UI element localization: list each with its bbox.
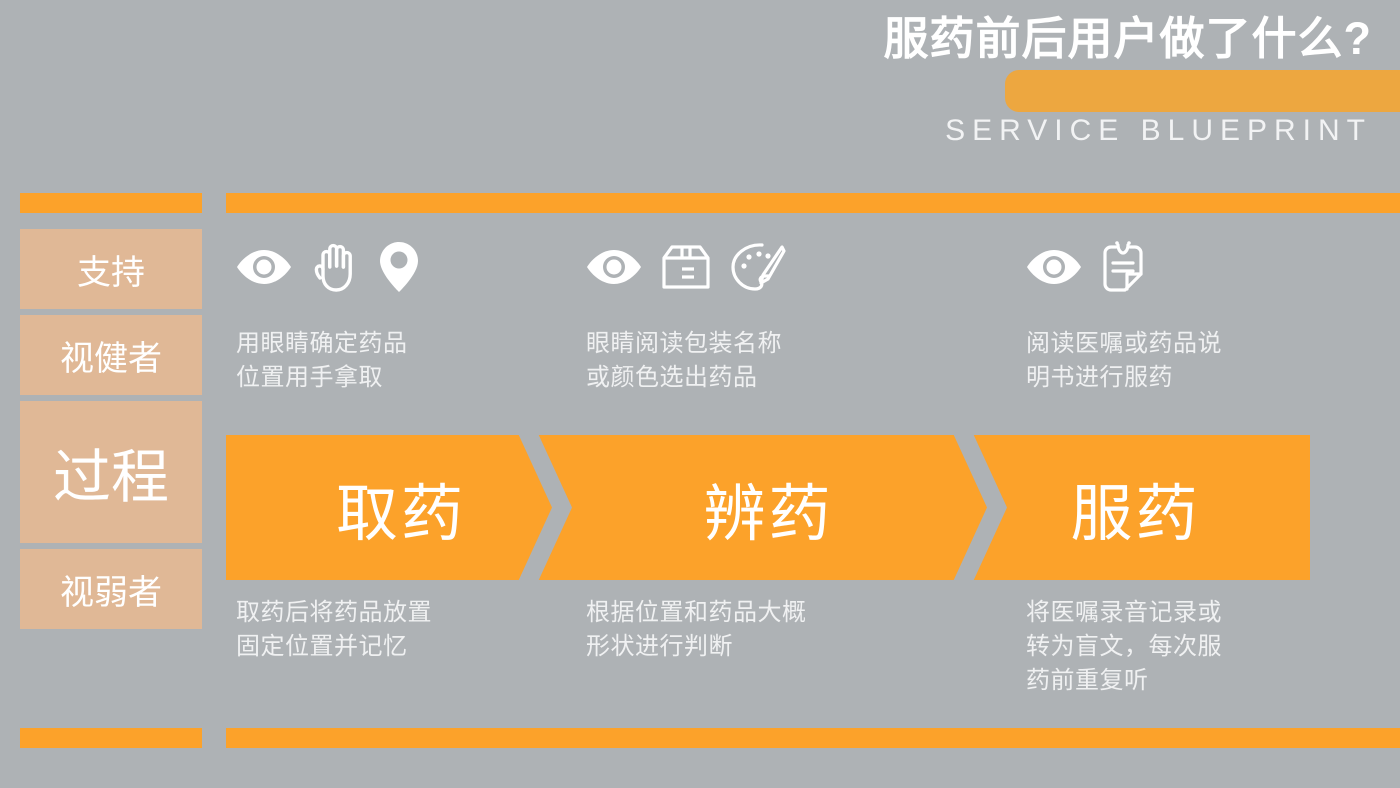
column-2-low-vision-text: 根据位置和药品大概形状进行判断: [586, 596, 916, 664]
column-1-sighted-text: 用眼睛确定药品位置用手拿取: [236, 327, 566, 395]
header: 服药前后用户做了什么? SERVICE BLUEPRINT: [0, 0, 1400, 175]
column-2-low-vision: 根据位置和药品大概形状进行判断: [586, 596, 916, 664]
column-3-sighted-text: 阅读医嘱或药品说明书进行服药: [1026, 327, 1356, 395]
eye-icon: [1026, 244, 1082, 290]
top-rule-right: [226, 193, 1400, 213]
column-1-low-vision-text: 取药后将药品放置固定位置并记忆: [236, 596, 566, 664]
eye-icon: [236, 244, 292, 290]
column-3-low-vision: 将医嘱录音记录或转为盲文，每次服药前重复听: [1026, 596, 1356, 698]
bottom-rule-right: [226, 728, 1400, 748]
service-blueprint-canvas: 服药前后用户做了什么? SERVICE BLUEPRINT 支持 视健者 过程 …: [0, 0, 1400, 788]
page-title: 服药前后用户做了什么?: [884, 14, 1373, 64]
hand-icon: [310, 241, 360, 293]
column-1-icons: [236, 229, 566, 305]
support-row: 用眼睛确定药品位置用手拿取: [226, 229, 1400, 435]
row-label-low-vision: 视弱者: [20, 549, 202, 629]
column-3-low-vision-text: 将医嘱录音记录或转为盲文，每次服药前重复听: [1026, 596, 1356, 698]
column-1-low-vision: 取药后将药品放置固定位置并记忆: [236, 596, 566, 664]
row-label-support: 支持: [20, 229, 202, 309]
process-step-1[interactable]: 取药: [226, 435, 576, 580]
low-vision-row: 取药后将药品放置固定位置并记忆 根据位置和药品大概形状进行判断 将医嘱录音记录或…: [226, 596, 1400, 716]
process-step-3[interactable]: 服药: [961, 435, 1310, 580]
column-2-icons: [586, 229, 916, 305]
bottom-rule-left: [20, 728, 202, 748]
top-rule-left: [20, 193, 202, 213]
column-2: 眼睛阅读包装名称或颜色选出药品: [586, 229, 916, 395]
column-1: 用眼睛确定药品位置用手拿取: [236, 229, 566, 395]
package-box-icon: [660, 243, 712, 291]
location-pin-icon: [378, 240, 420, 294]
row-label-sighted: 视健者: [20, 315, 202, 395]
row-label-column: 支持 视健者 过程 视弱者: [20, 229, 202, 635]
column-3-icons: [1026, 229, 1356, 305]
title-accent-bar: [1005, 70, 1400, 112]
page-subtitle: SERVICE BLUEPRINT: [945, 114, 1372, 148]
column-2-sighted-text: 眼睛阅读包装名称或颜色选出药品: [586, 327, 916, 395]
row-label-process: 过程: [20, 401, 202, 543]
process-step-2[interactable]: 辨药: [576, 435, 961, 580]
eye-icon: [586, 244, 642, 290]
column-3: 阅读医嘱或药品说明书进行服药: [1026, 229, 1356, 395]
prescription-note-icon: [1100, 240, 1146, 294]
palette-icon: [730, 242, 786, 292]
process-band: 取药 辨药 服药: [226, 435, 1310, 580]
